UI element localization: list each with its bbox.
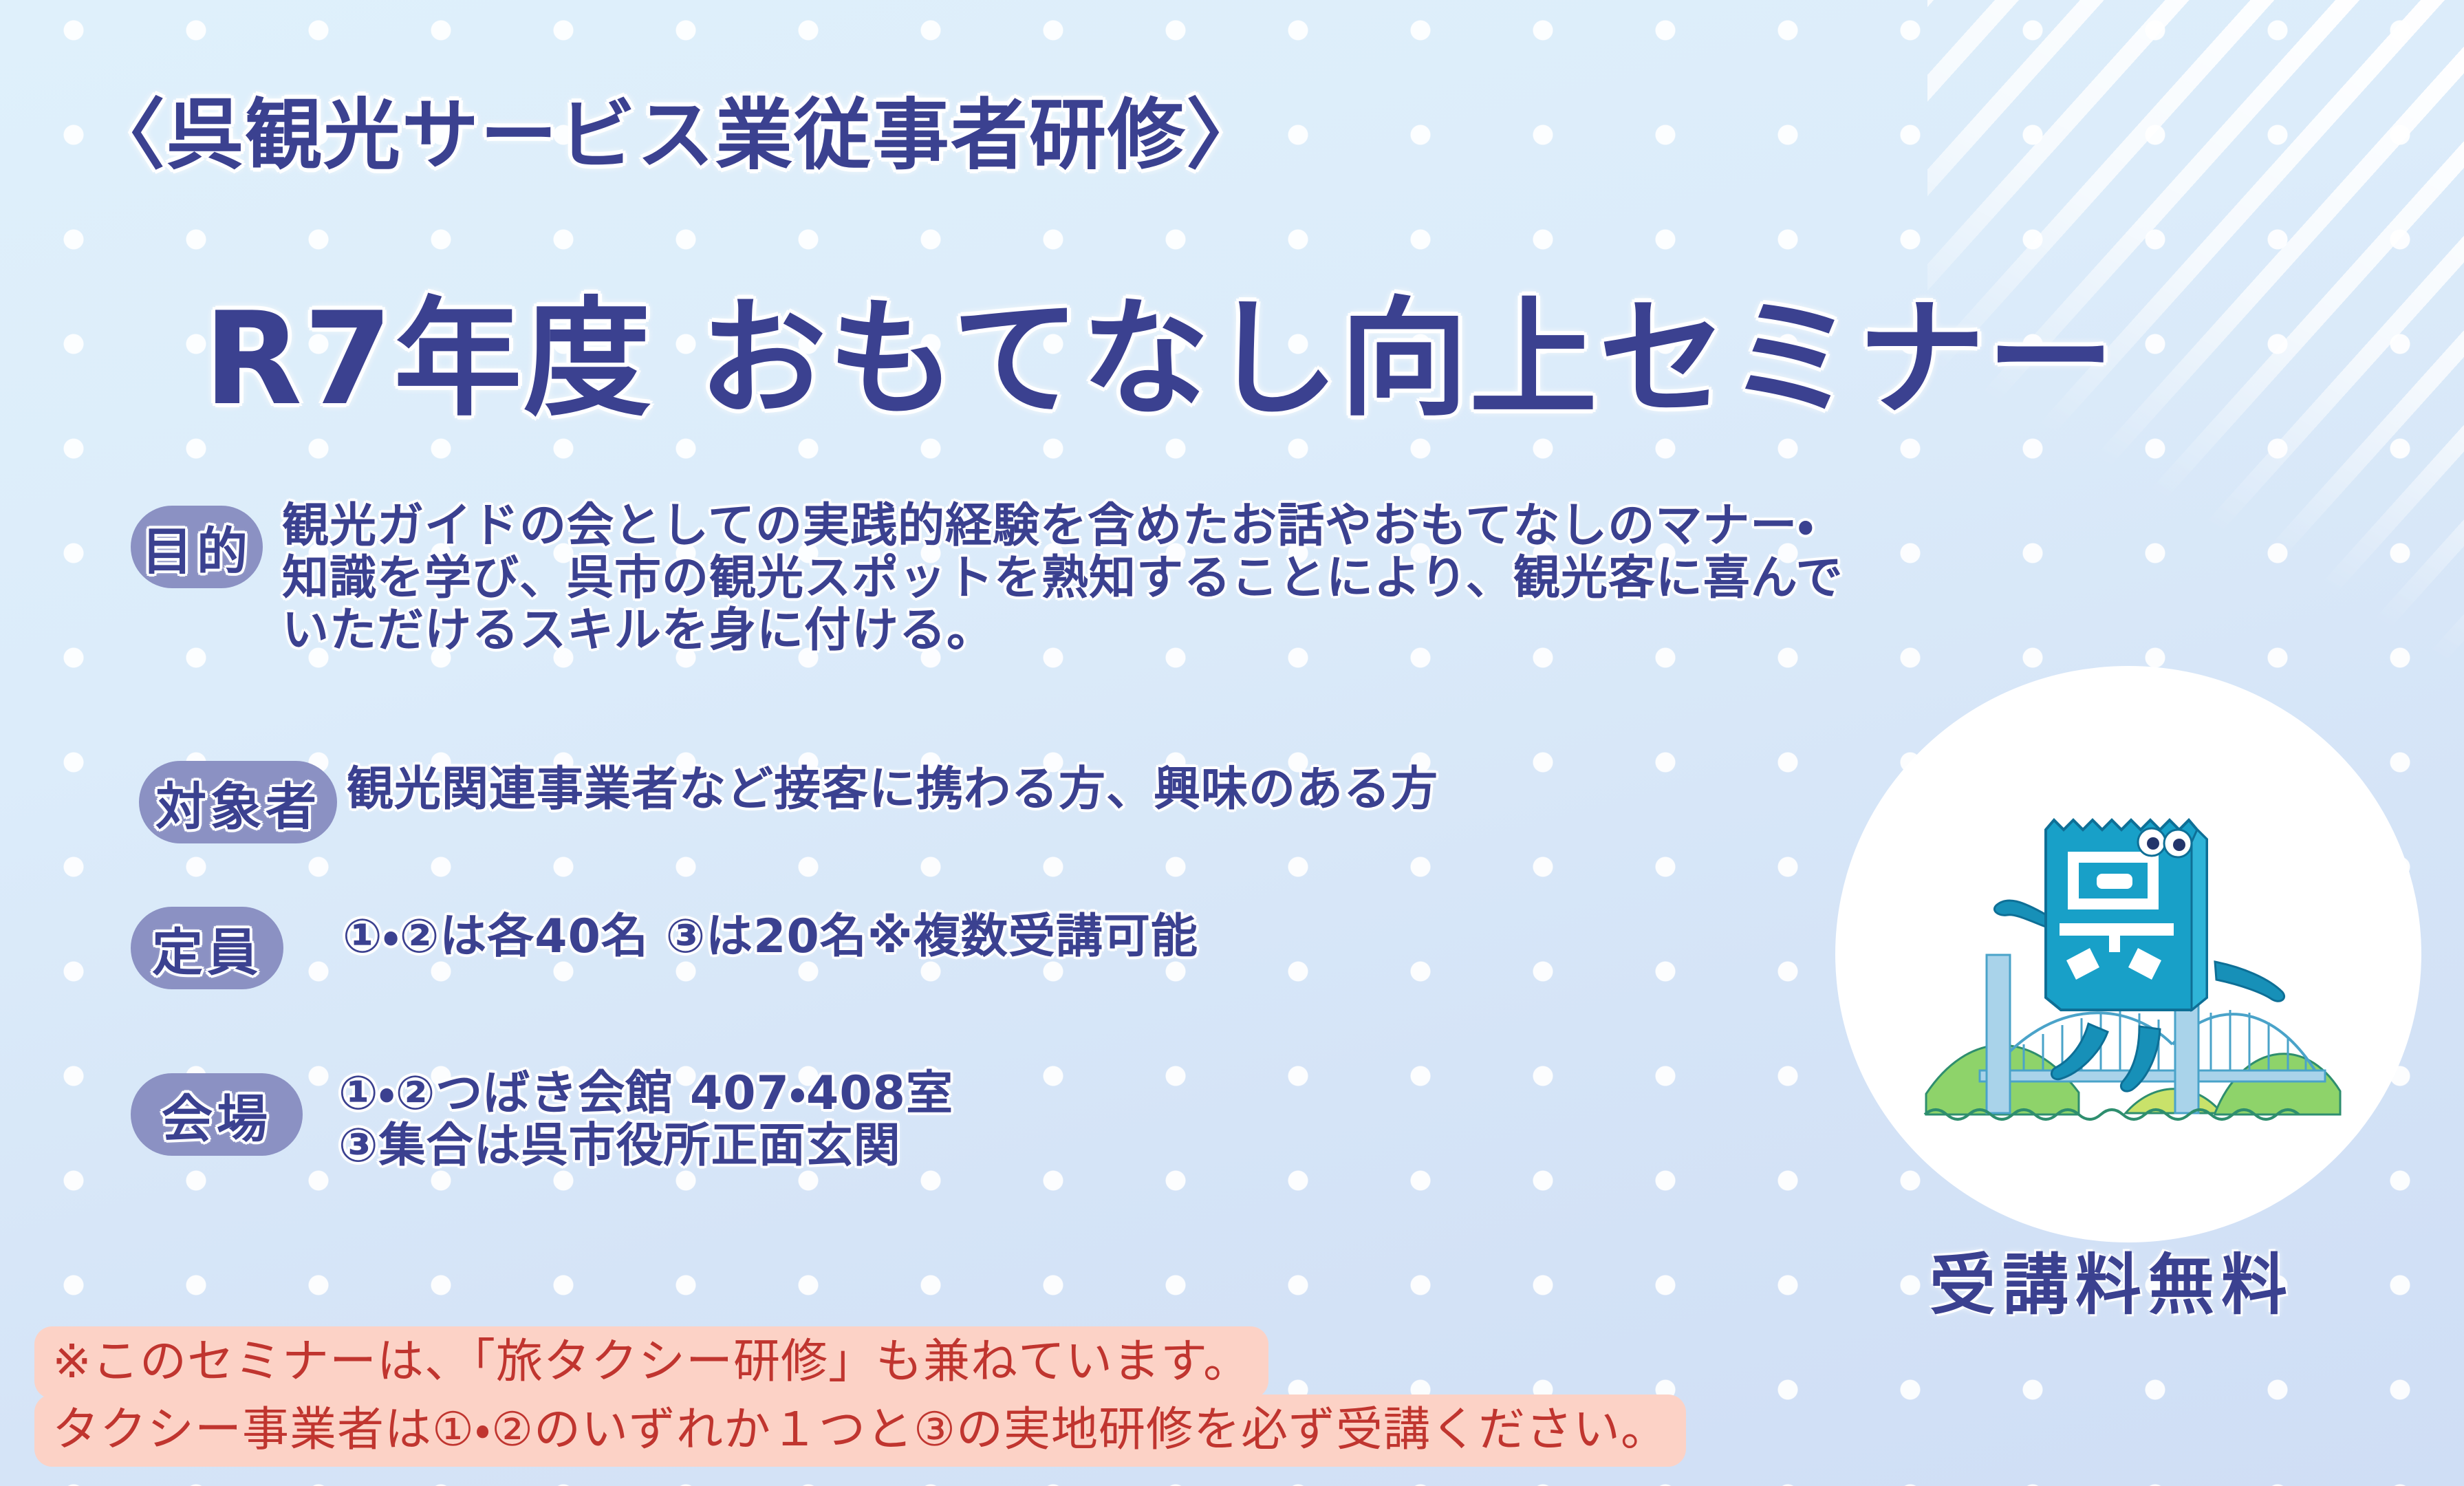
notice-line-2: タクシー事業者は①・②のいずれか１つと③の実地研修を必ず受講ください。 <box>34 1395 1686 1467</box>
label-pill-target: 対象者 <box>139 761 337 843</box>
free-admission-badge: 受講料無料 <box>1930 1231 2294 1327</box>
kure-mascot-illustration <box>1919 771 2346 1156</box>
page-title: R7年度 おもてなし向上セミナー <box>204 255 2116 440</box>
notice-banner: ※このセミナーは、「旅タクシー研修」も兼ねています。 タクシー事業者は①・②のい… <box>34 1326 1686 1467</box>
label-text-capacity: 定員 <box>152 912 262 985</box>
info-row-venue: 会場 ①・②つばき会館 407・408室 ③集合は呉市役所正面玄関 <box>131 1073 953 1172</box>
body-text-target: 観光関連事業者など接客に携わる方、興味のある方 <box>347 764 1438 816</box>
notice-line-1: ※このセミナーは、「旅タクシー研修」も兼ねています。 <box>34 1326 1268 1399</box>
kicker-heading: 〈呉観光サービス業従事者研修〉 <box>88 73 1264 184</box>
body-text-purpose: 観光ガイドの会としての実践的経験を含めたお話やおもてなしのマナー・ 知識を学び、… <box>282 500 1844 657</box>
label-text-target: 対象者 <box>155 766 321 839</box>
body-text-capacity: ①・②は各40名 ③は20名※複数受講可能 <box>343 911 1198 963</box>
label-pill-venue: 会場 <box>131 1073 303 1156</box>
label-pill-capacity: 定員 <box>131 907 283 989</box>
label-pill-purpose: 目的 <box>131 506 263 588</box>
info-row-capacity: 定員 ①・②は各40名 ③は20名※複数受講可能 <box>131 907 1198 989</box>
label-text-purpose: 目的 <box>142 510 252 584</box>
info-row-purpose: 目的 観光ガイドの会としての実践的経験を含めたお話やおもてなしのマナー・ 知識を… <box>131 506 1844 657</box>
info-row-target: 対象者 観光関連事業者など接客に携わる方、興味のある方 <box>139 761 1438 843</box>
label-text-venue: 会場 <box>162 1078 272 1152</box>
body-text-venue: ①・②つばき会館 407・408室 ③集合は呉市役所正面玄関 <box>338 1068 953 1172</box>
poster-canvas: 〈呉観光サービス業従事者研修〉 R7年度 おもてなし向上セミナー 目的 観光ガイ… <box>0 0 2464 1486</box>
